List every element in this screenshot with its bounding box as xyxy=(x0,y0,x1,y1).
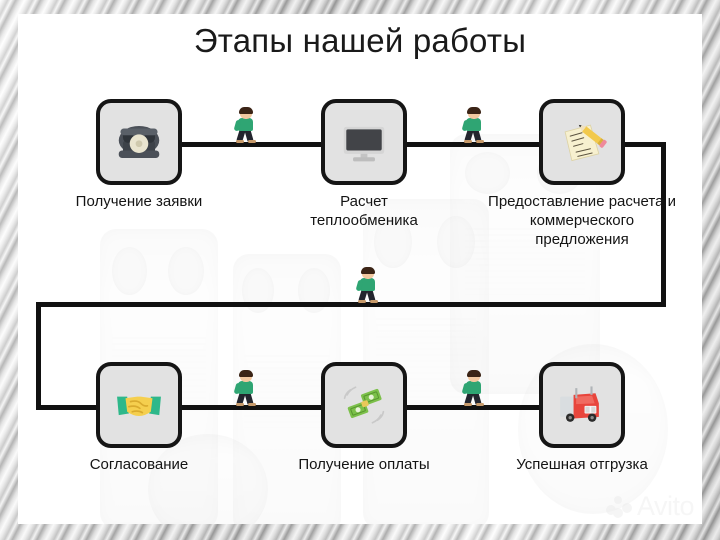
connector-stage2-stage3 xyxy=(404,142,540,147)
stage-1-box[interactable] xyxy=(96,99,182,185)
stage-5-box[interactable] xyxy=(321,362,407,448)
stage-6-label: Успешная отгрузка xyxy=(492,455,672,474)
avito-logo-icon xyxy=(606,496,632,518)
delivery-truck-icon xyxy=(555,378,609,432)
walker-4-icon xyxy=(233,371,259,405)
avito-wordmark: Avito xyxy=(637,493,694,520)
stage-1[interactable]: Получение заявки xyxy=(96,99,182,211)
handshake-icon xyxy=(112,378,166,432)
stage-3-box[interactable] xyxy=(539,99,625,185)
stage-5-label: Получение оплаты xyxy=(279,455,449,474)
stage-3[interactable]: Предоставление расчета и коммерческого п… xyxy=(539,99,625,250)
stage-3-label: Предоставление расчета и коммерческого п… xyxy=(487,192,677,250)
connector-left-vertical xyxy=(36,302,41,410)
stage-4-label: Согласование xyxy=(64,455,214,474)
walker-5-icon xyxy=(461,371,487,405)
stage-1-label: Получение заявки xyxy=(64,192,214,211)
stage-6-box[interactable] xyxy=(539,362,625,448)
walker-2-icon xyxy=(461,108,487,142)
walker-1-icon xyxy=(233,108,259,142)
stage-6[interactable]: Успешная отгрузка xyxy=(539,362,625,474)
stage-2-label: Расчет теплообменика xyxy=(289,192,439,230)
connector-stage3-right xyxy=(622,142,666,147)
desktop-computer-icon xyxy=(337,115,391,169)
memo-pencil-icon xyxy=(555,115,609,169)
stage-2-box[interactable] xyxy=(321,99,407,185)
avito-watermark: Avito xyxy=(606,493,694,520)
stage-2[interactable]: Расчет теплообменика xyxy=(321,99,407,230)
connector-return-horizontal xyxy=(36,302,666,307)
stage-2-label-line1: Расчет xyxy=(289,192,439,211)
page-title: Этапы нашей работы xyxy=(18,22,702,60)
connector-stage5-stage6 xyxy=(404,405,540,410)
telephone-icon xyxy=(112,115,166,169)
money-with-wings-icon xyxy=(337,378,391,432)
connector-left-stage4 xyxy=(36,405,98,410)
stage-5[interactable]: Получение оплаты xyxy=(321,362,407,474)
walker-3-icon xyxy=(355,268,381,302)
stage-4-box[interactable] xyxy=(96,362,182,448)
stage-4[interactable]: Согласование xyxy=(96,362,182,474)
stage-2-label-line2: теплообменика xyxy=(289,211,439,230)
slide-card: Этапы нашей работы Получение заявки xyxy=(18,14,702,524)
